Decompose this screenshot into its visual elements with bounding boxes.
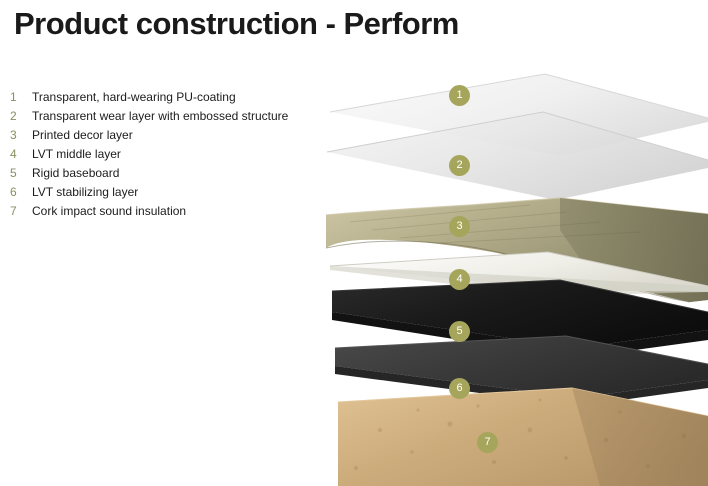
layer-7-cork-insulation-layer — [338, 388, 708, 486]
badge-1: 1 — [449, 85, 470, 106]
product-construction-diagram: Product construction - Perform 1 Transpa… — [0, 0, 708, 486]
badge-6: 6 — [449, 378, 470, 399]
badge-3: 3 — [449, 216, 470, 237]
badge-5: 5 — [449, 321, 470, 342]
exploded-layers-illustration — [0, 0, 708, 486]
badge-2: 2 — [449, 155, 470, 176]
badge-7: 7 — [477, 432, 498, 453]
badge-4: 4 — [449, 269, 470, 290]
